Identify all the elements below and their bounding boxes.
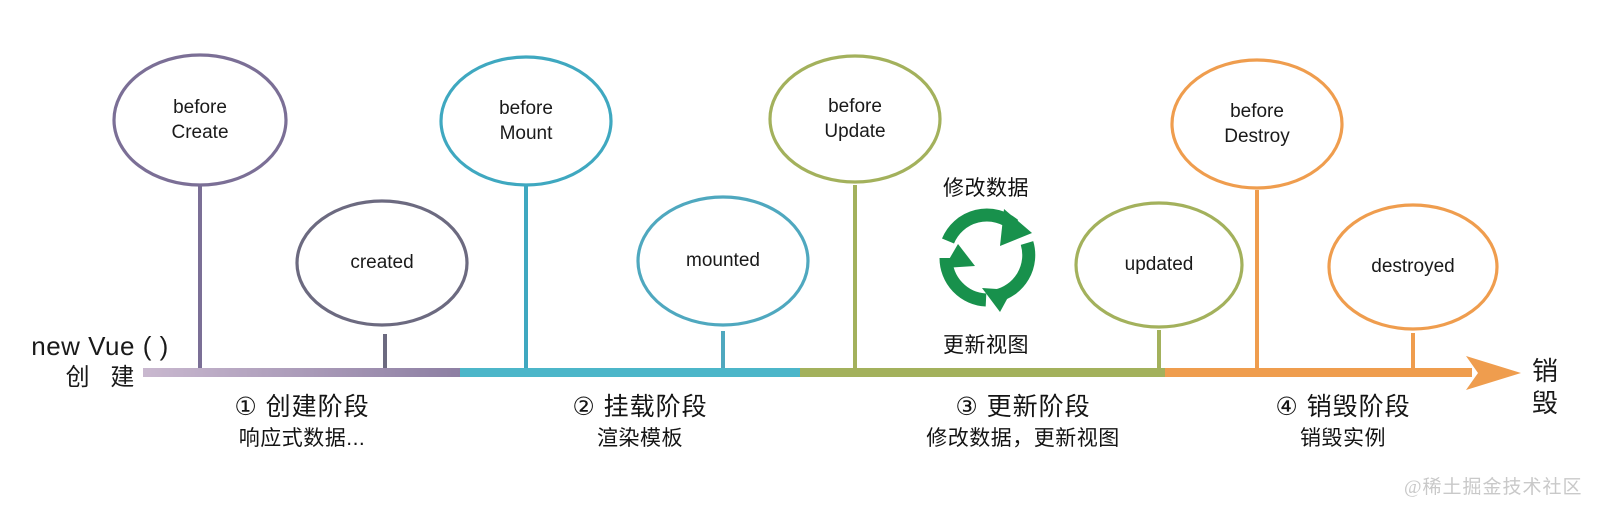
- loop-caption-top: 修改数据: [906, 176, 1066, 202]
- phase-label-destroy: ④ 销毁阶段 销毁实例: [1208, 391, 1478, 454]
- bubble-created[interactable]: [297, 201, 467, 325]
- bubble-beforeUpdate[interactable]: [770, 56, 940, 182]
- axis-segment-mount: [460, 368, 800, 377]
- axis-segment-update: [800, 368, 1165, 377]
- axis-start-label: new Vue ( ) 创 建: [10, 330, 190, 394]
- axis-segment-create: [143, 368, 460, 377]
- phase-label-mount: ② 挂载阶段 渲染模板: [505, 391, 775, 454]
- phase-label-create: ① 创建阶段 响应式数据...: [167, 391, 437, 454]
- timeline-axis: [143, 356, 1521, 390]
- axis-end-label: 销 毁: [1532, 355, 1614, 419]
- phase-title: ④ 销毁阶段: [1208, 391, 1478, 424]
- phase-title: ② 挂载阶段: [505, 391, 775, 424]
- bubble-mounted[interactable]: [638, 197, 808, 325]
- axis-start-line1: new Vue ( ): [10, 330, 190, 362]
- bubble-destroyed[interactable]: [1329, 205, 1497, 329]
- axis-arrow-head: [1466, 356, 1521, 390]
- phase-label-update: ③ 更新阶段 修改数据，更新视图: [888, 391, 1158, 454]
- axis-start-line2: 创 建: [10, 362, 190, 394]
- bubble-beforeDestroy[interactable]: [1172, 60, 1342, 188]
- watermark: @稀土掘金技术社区: [1404, 472, 1583, 499]
- loop-caption-bottom: 更新视图: [906, 333, 1066, 359]
- phase-sub: 响应式数据...: [167, 424, 437, 454]
- bubble-beforeMount[interactable]: [441, 57, 611, 185]
- bubble-beforeCreate[interactable]: [114, 55, 286, 185]
- phase-sub: 修改数据，更新视图: [888, 424, 1158, 454]
- phase-title: ③ 更新阶段: [888, 391, 1158, 424]
- phase-sub: 销毁实例: [1208, 424, 1478, 454]
- refresh-cycle-icon: [944, 209, 1032, 312]
- bubble-updated[interactable]: [1076, 203, 1242, 327]
- axis-segment-destroy: [1165, 368, 1472, 377]
- lifecycle-diagram: before Create created before Mount mount…: [0, 0, 1614, 512]
- phase-sub: 渲染模板: [505, 424, 775, 454]
- phase-title: ① 创建阶段: [167, 391, 437, 424]
